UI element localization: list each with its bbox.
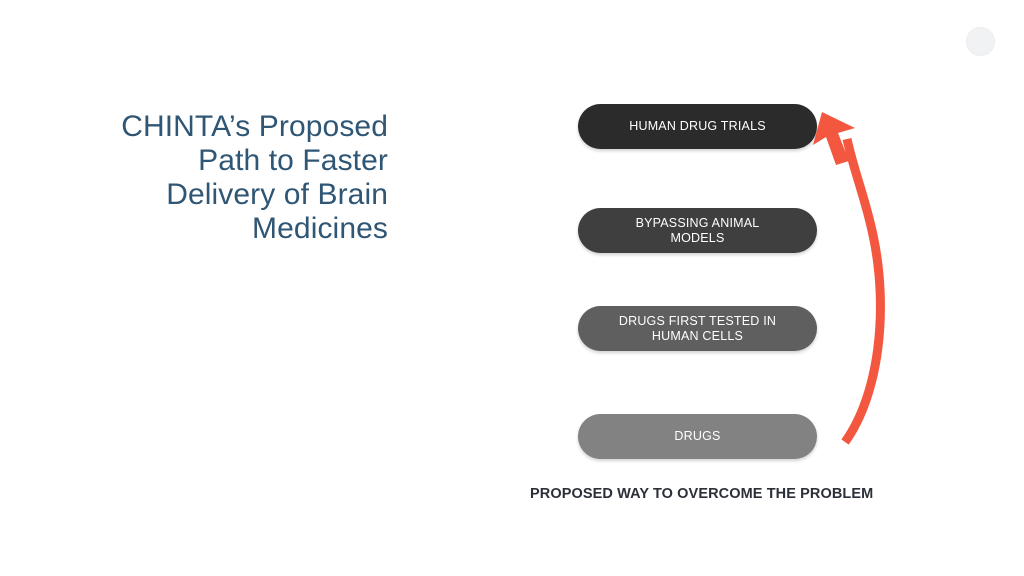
upward-curved-arrow-icon <box>805 95 915 460</box>
flow-step-bypassing-animal-models[interactable]: BYPASSING ANIMAL MODELS <box>578 208 817 253</box>
page-title: CHINTA’s Proposed Path to Faster Deliver… <box>46 110 388 246</box>
flow-step-label: DRUGS <box>674 429 720 444</box>
flow-step-label: DRUGS FIRST TESTED IN HUMAN CELLS <box>619 314 776 344</box>
flow-step-human-drug-trials[interactable]: HUMAN DRUG TRIALS <box>578 104 817 149</box>
flow-step-label: HUMAN DRUG TRIALS <box>629 119 766 134</box>
flow-step-drugs[interactable]: DRUGS <box>578 414 817 459</box>
caption-text: PROPOSED WAY TO OVERCOME THE PROBLEM <box>530 486 920 502</box>
circle-decoration-icon <box>966 27 995 56</box>
flow-step-label: BYPASSING ANIMAL MODELS <box>636 216 760 246</box>
slide-canvas: CHINTA’s Proposed Path to Faster Deliver… <box>0 0 1024 576</box>
flow-step-drugs-first-tested-in-human-cells[interactable]: DRUGS FIRST TESTED IN HUMAN CELLS <box>578 306 817 351</box>
